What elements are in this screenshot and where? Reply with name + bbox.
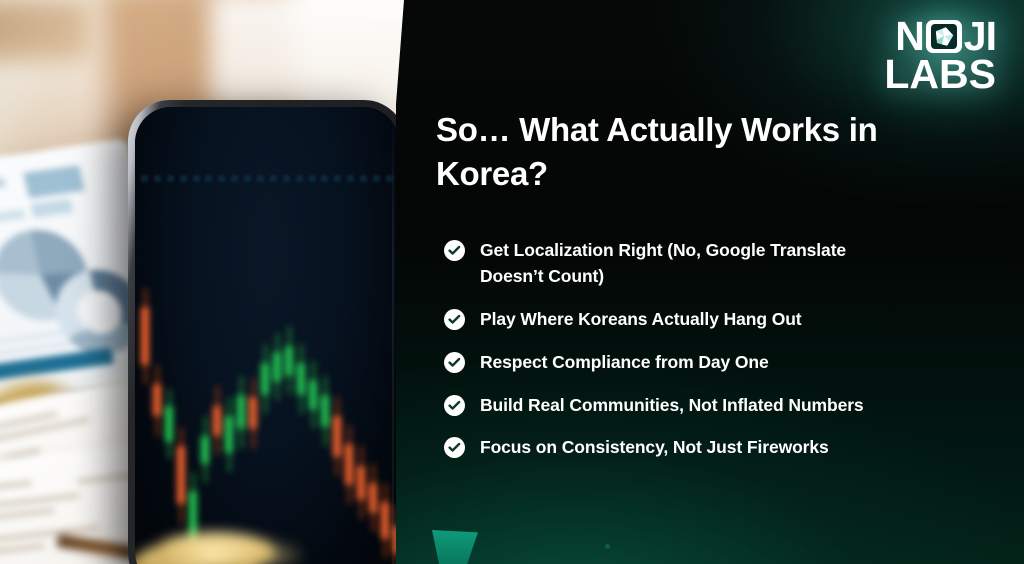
bullet-label: Build Real Communities, Not Inflated Num… (480, 393, 864, 419)
bullet-label: Focus on Consistency, Not Just Fireworks (480, 435, 829, 461)
phone-screen (135, 107, 399, 564)
bullet-label: Get Localization Right (No, Google Trans… (480, 238, 904, 290)
check-circle-icon (444, 352, 465, 373)
bullet-label: Respect Compliance from Day One (480, 350, 769, 376)
wood-edge-blur (0, 0, 90, 60)
bullet-item: Focus on Consistency, Not Just Fireworks (444, 435, 904, 461)
logo-line-labs: LABS (884, 56, 996, 94)
check-circle-icon (444, 395, 465, 416)
panel-diagonal-edge (392, 0, 394, 564)
logo-diamond-icon (926, 20, 962, 53)
check-circle-icon (444, 309, 465, 330)
bullet-item: Respect Compliance from Day One (444, 350, 904, 376)
bullet-list: Get Localization Right (No, Google Trans… (444, 238, 904, 461)
bullet-item: Get Localization Right (No, Google Trans… (444, 238, 904, 290)
gold-coins (135, 482, 325, 564)
bullet-item: Build Real Communities, Not Inflated Num… (444, 393, 904, 419)
bullet-label: Play Where Koreans Actually Hang Out (480, 307, 802, 333)
check-circle-icon (444, 240, 465, 261)
bullet-item: Play Where Koreans Actually Hang Out (444, 307, 904, 333)
slide-root: N JI LABS So… What Actually Works in Kor… (0, 0, 1024, 564)
page-title: So… What Actually Works in Korea? (436, 108, 956, 196)
check-circle-icon (444, 437, 465, 458)
phone-device (128, 100, 406, 564)
noji-labs-logo[interactable]: N JI LABS (884, 18, 996, 93)
teal-dot-accent (605, 544, 610, 549)
screen-dot-row (141, 175, 393, 182)
